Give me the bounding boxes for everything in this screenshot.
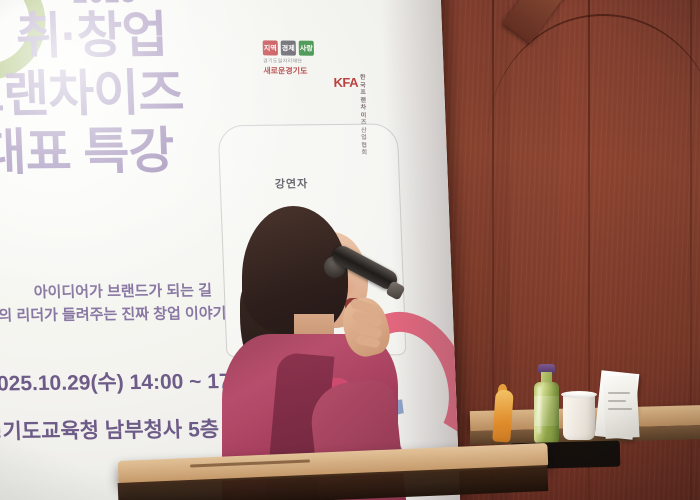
documents-stack-top [602,375,639,439]
paper-cup [563,394,595,440]
logo-block-2: 경제 [281,40,296,55]
photo-scene: 2025 취·창업 프랜차이즈 대표 특강 아이디어가 브랜드가 되는 길 장의… [0,0,700,500]
document-line-3 [608,408,632,410]
bottle-highlight [537,386,541,434]
logo-block-1: 지역 [263,40,278,55]
sponsor-logos: 지역 경제 사랑 경기도일자리재단 새로운경기도 KFA 한국프랜차이즈산업협회 [263,40,315,76]
logo-block-group: 지역 경제 사랑 [263,40,314,55]
marker [492,389,514,442]
speaker-card-label: 강연자 [275,175,309,191]
kfa-mark: KFA [333,75,358,90]
headline-line-1: 취·창업 [15,5,291,66]
logo-org-name: 새로운경기도 [263,65,314,76]
headline-line-2: 프랜차이즈 [0,63,293,124]
document-line-2 [608,400,626,402]
logo-block-3: 사랑 [299,41,314,56]
paper-cup-rim [561,391,597,398]
logo-caption: 경기도일자리재단 [263,57,314,64]
document-line-1 [608,392,630,394]
